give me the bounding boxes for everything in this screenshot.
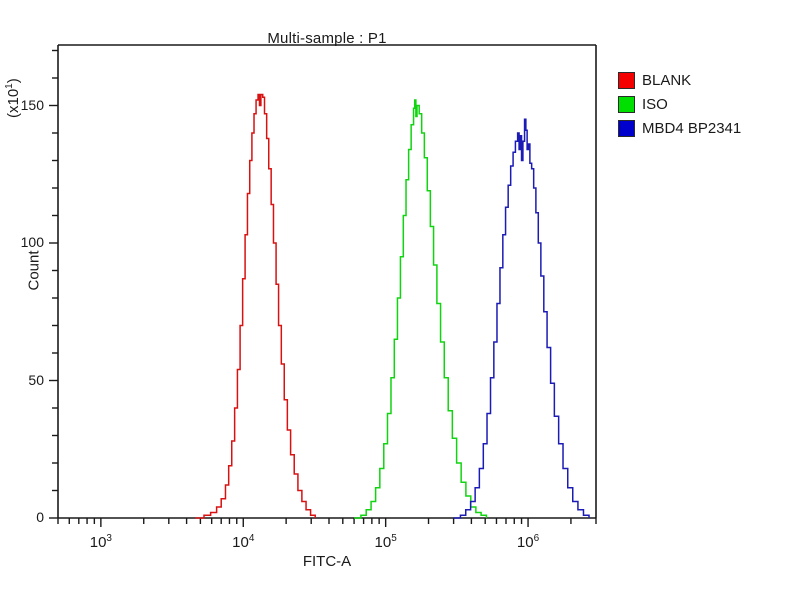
legend-item-label: ISO (642, 96, 668, 113)
legend-color-swatch (618, 120, 635, 137)
legend-item-label: BLANK (642, 72, 691, 89)
legend-color-swatch (618, 72, 635, 89)
x-tick-label: 106 (503, 533, 553, 551)
legend-item-label: MBD4 BP2341 (642, 120, 741, 137)
x-tick-label: 104 (218, 533, 268, 551)
y-tick-label: 50 (10, 372, 44, 388)
legend: BLANKISOMBD4 BP2341 (618, 68, 741, 140)
legend-item-blank[interactable]: BLANK (618, 68, 741, 92)
y-tick-label: 150 (10, 97, 44, 113)
legend-item-iso[interactable]: ISO (618, 92, 741, 116)
y-tick-label: 0 (10, 509, 44, 525)
flow-cytometry-histogram: Multi-sample : P1 (x101) Count FITC-A 05… (0, 0, 800, 600)
legend-item-mbd4-bp2341[interactable]: MBD4 BP2341 (618, 116, 741, 140)
legend-color-swatch (618, 96, 635, 113)
x-tick-label: 105 (361, 533, 411, 551)
x-tick-label: 103 (76, 533, 126, 551)
y-tick-label: 100 (10, 234, 44, 250)
